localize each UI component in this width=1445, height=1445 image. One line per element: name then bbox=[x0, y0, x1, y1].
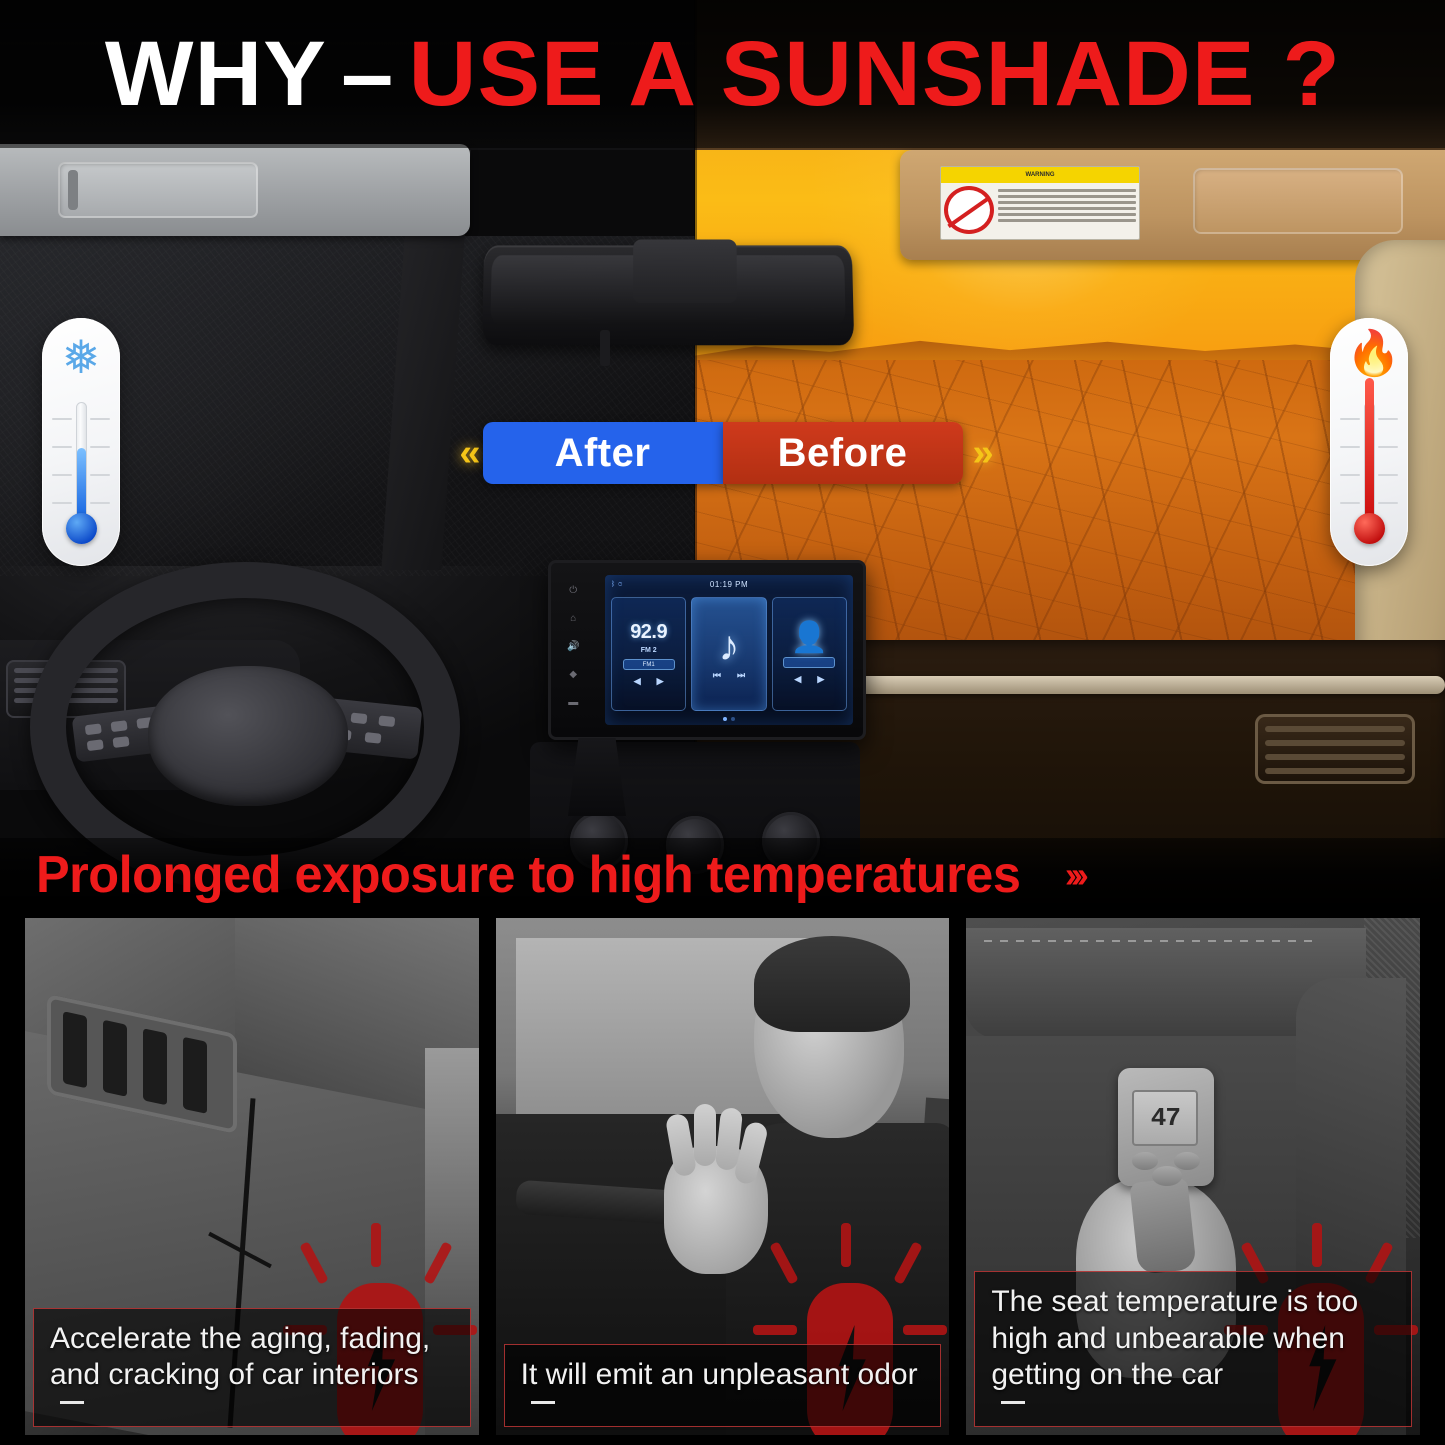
next-contact-icon[interactable]: ▶ bbox=[817, 674, 824, 685]
prev-contact-icon[interactable]: ◀ bbox=[794, 674, 801, 685]
cold-thermometer: ❅ bbox=[42, 318, 120, 566]
thermometer-display: 47 bbox=[1132, 1090, 1198, 1146]
caption-text: It will emit an unpleasant odor bbox=[521, 1357, 927, 1394]
prev-icon[interactable]: ◀ bbox=[634, 676, 641, 687]
meter-button-left[interactable] bbox=[1132, 1152, 1158, 1170]
next-track-icon[interactable]: ⏭ bbox=[737, 670, 745, 681]
before-after-hero: WARNING bbox=[0, 0, 1445, 905]
panel-caption: The seat temperature is too high and unb… bbox=[974, 1271, 1412, 1427]
panel-hot-seat: 47 The seat temperature is too high and … bbox=[966, 918, 1420, 1435]
thermometer-fill-cold bbox=[77, 448, 86, 520]
next-icon[interactable]: ▶ bbox=[657, 676, 664, 687]
radio-seek-controls[interactable]: ◀ ▶ bbox=[634, 676, 664, 687]
mirror-mount bbox=[633, 239, 737, 303]
flame-icon: 🔥 bbox=[1346, 326, 1392, 382]
left-chevron-icon: « bbox=[449, 432, 482, 475]
home-icon[interactable]: ⌂ bbox=[570, 613, 576, 624]
head-unit-status-bar: ᛒ ⊙ 01:19 PM bbox=[605, 575, 853, 593]
media-controls[interactable]: ⏮ ⏭ bbox=[713, 670, 745, 681]
radio-preset[interactable]: FM1 bbox=[623, 659, 675, 670]
man-hair bbox=[754, 936, 910, 1032]
subtitle-chevrons-icon: ››› bbox=[1065, 854, 1083, 896]
title-why: WHY bbox=[104, 22, 326, 127]
prev-track-icon[interactable]: ⏮ bbox=[713, 670, 721, 681]
meter-button-right[interactable] bbox=[1174, 1152, 1200, 1170]
header-bar: WHY – USE A SUNSHADE ? bbox=[0, 0, 1445, 148]
panel-cracked-dashboard: Accelerate the aging, fading, and cracki… bbox=[25, 918, 479, 1435]
media-tile[interactable]: ♪ ⏮ ⏭ bbox=[691, 597, 766, 711]
warning-label-heading: WARNING bbox=[941, 167, 1139, 183]
infrared-thermometer: 47 bbox=[1118, 1068, 1214, 1186]
no-child-seat-icon bbox=[944, 186, 994, 234]
page-indicator bbox=[605, 717, 853, 721]
mirror-stem bbox=[600, 330, 610, 366]
man-hand bbox=[664, 1146, 768, 1274]
music-note-icon: ♪ bbox=[718, 628, 739, 664]
head-unit-side-buttons[interactable]: ⏻ ⌂ 🔊 ◆ ▬ bbox=[567, 585, 579, 708]
title-dash: – bbox=[326, 22, 408, 127]
product-infographic: WARNING bbox=[0, 0, 1445, 1445]
caption-text: The seat temperature is too high and unb… bbox=[991, 1284, 1397, 1394]
phone-controls[interactable]: ◀ ▶ bbox=[794, 674, 824, 685]
head-unit-screen[interactable]: ᛒ ⊙ 01:19 PM 92.9 FM 2 FM1 ◀ ▶ ♪ bbox=[605, 575, 853, 725]
bluetooth-icon: ᛒ ⊙ bbox=[611, 581, 623, 588]
rearview-mirror bbox=[482, 245, 854, 345]
visor-clip-right bbox=[1193, 168, 1403, 234]
visor-clip-left bbox=[58, 162, 258, 218]
title-use-a-sunshade: USE A SUNSHADE ? bbox=[408, 22, 1340, 127]
benefit-panels: Accelerate the aging, fading, and cracki… bbox=[0, 918, 1445, 1445]
airbag-warning-label: WARNING bbox=[940, 166, 1140, 240]
steering-wheel-hub bbox=[148, 666, 348, 806]
thermometer-fill-hot bbox=[1365, 378, 1374, 520]
infotainment-head-unit[interactable]: ⏻ ⌂ 🔊 ◆ ▬ ᛒ ⊙ 01:19 PM 92.9 FM 2 FM1 bbox=[548, 560, 866, 740]
air-vent-right bbox=[1255, 714, 1415, 784]
caption-underline bbox=[531, 1401, 555, 1404]
subtitle-bar: Prolonged exposure to high temperatures … bbox=[0, 838, 1445, 905]
before-after-badges: « After Before » bbox=[0, 418, 1445, 488]
contact-chip[interactable] bbox=[783, 657, 835, 668]
thermometer-bulb-hot bbox=[1354, 513, 1385, 544]
head-unit-clock: 01:19 PM bbox=[710, 580, 748, 589]
radio-tile[interactable]: 92.9 FM 2 FM1 ◀ ▶ bbox=[611, 597, 686, 711]
caption-text: Accelerate the aging, fading, and cracki… bbox=[50, 1321, 456, 1394]
menu-icon[interactable]: ▬ bbox=[568, 697, 578, 708]
subtitle-text: Prolonged exposure to high temperatures bbox=[36, 845, 1020, 905]
thermometer-bulb-cold bbox=[66, 513, 97, 544]
seat-stitching bbox=[984, 940, 1314, 942]
panel-unpleasant-odor: It will emit an unpleasant odor bbox=[496, 918, 950, 1435]
right-chevron-icon: » bbox=[963, 432, 996, 475]
measured-temperature: 47 bbox=[1151, 1103, 1180, 1133]
thermometer-grip bbox=[1130, 1177, 1197, 1275]
volume-icon[interactable]: 🔊 bbox=[567, 641, 579, 652]
before-badge[interactable]: Before bbox=[723, 422, 963, 484]
caption-underline bbox=[1001, 1401, 1025, 1404]
panel-caption: Accelerate the aging, fading, and cracki… bbox=[33, 1308, 471, 1427]
page-title: WHY – USE A SUNSHADE ? bbox=[104, 22, 1340, 127]
snowflake-icon: ❅ bbox=[56, 332, 106, 382]
radio-band: FM 2 bbox=[641, 647, 657, 654]
caption-underline bbox=[60, 1401, 84, 1404]
head-unit-tiles: 92.9 FM 2 FM1 ◀ ▶ ♪ ⏮ ⏭ bbox=[611, 597, 847, 711]
warning-label-text-lines bbox=[998, 186, 1136, 234]
person-icon: 👤 bbox=[791, 624, 828, 652]
nav-icon[interactable]: ◆ bbox=[569, 669, 577, 680]
phone-tile[interactable]: 👤 ◀ ▶ bbox=[772, 597, 847, 711]
hot-thermometer: 🔥 bbox=[1330, 318, 1408, 566]
power-icon[interactable]: ⏻ bbox=[569, 585, 577, 596]
dashboard-chrome-trim bbox=[785, 676, 1445, 694]
sun-visor-right: WARNING bbox=[900, 150, 1445, 260]
panel-caption: It will emit an unpleasant odor bbox=[504, 1344, 942, 1427]
sun-visor-left bbox=[0, 144, 470, 236]
radio-frequency: 92.9 bbox=[630, 621, 667, 644]
after-badge[interactable]: After bbox=[483, 422, 723, 484]
